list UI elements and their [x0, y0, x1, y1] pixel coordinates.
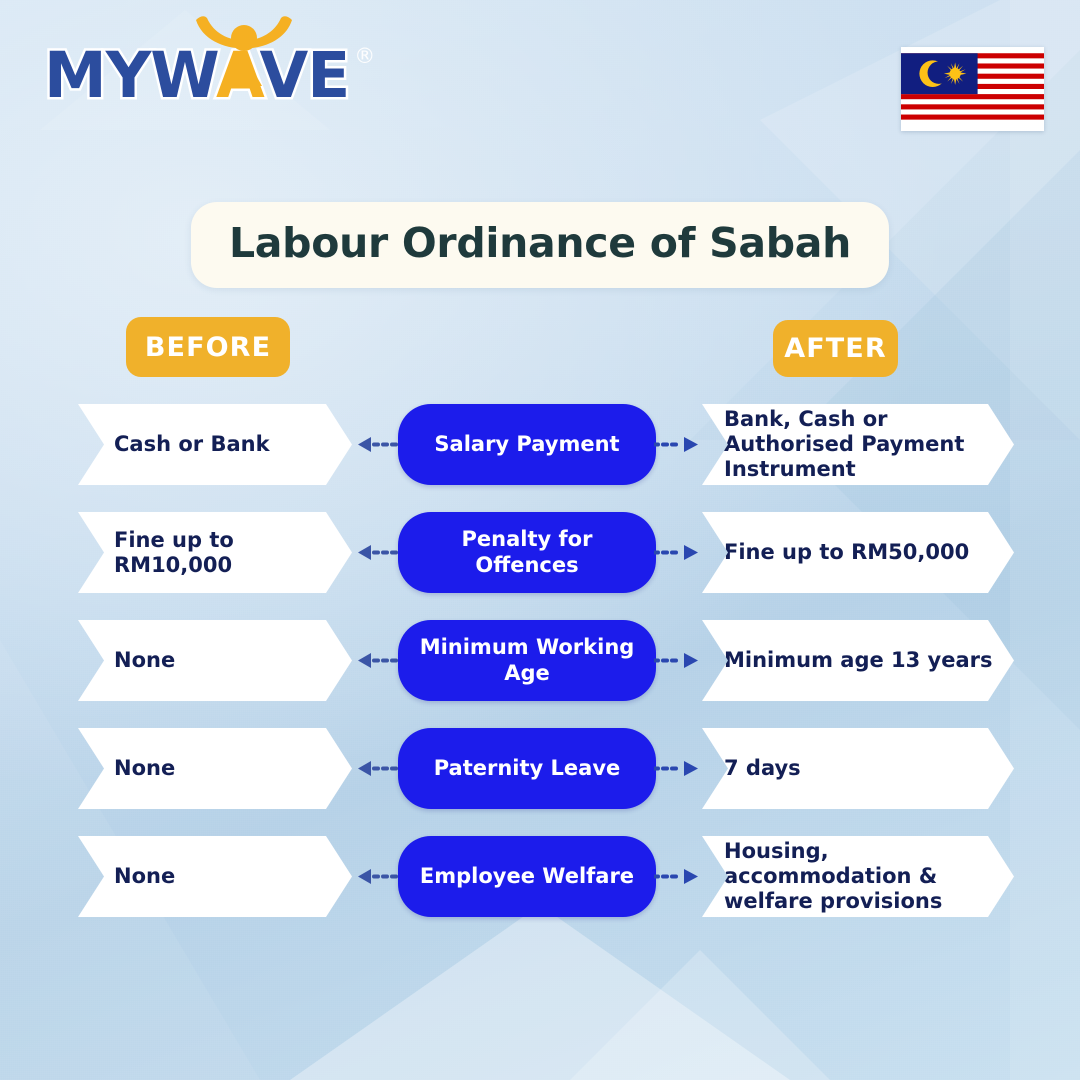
- topic-pill: Paternity Leave: [398, 728, 656, 809]
- before-card: Cash or Bank: [78, 404, 352, 485]
- after-value: Minimum age 13 years: [702, 648, 1009, 673]
- after-value: Bank, Cash or Authorised Payment Instrum…: [702, 407, 1014, 481]
- before-value: None: [78, 864, 191, 889]
- comparison-row: Cash or BankSalary PaymentBank, Cash or …: [0, 404, 1080, 485]
- mywave-wordmark: MYWAVE: [44, 44, 349, 107]
- column-header-before: BEFORE: [126, 317, 290, 377]
- arrow-left-icon: [358, 652, 400, 669]
- arrow-right-icon: [654, 436, 698, 453]
- topic-label: Employee Welfare: [404, 864, 650, 889]
- before-value: Fine up to RM10,000: [78, 528, 352, 578]
- column-header-after: AFTER: [773, 320, 898, 377]
- comparison-row: Fine up to RM10,000Penalty for OffencesF…: [0, 512, 1080, 593]
- after-card: Fine up to RM50,000: [702, 512, 1014, 593]
- before-card: Fine up to RM10,000: [78, 512, 352, 593]
- topic-pill: Minimum Working Age: [398, 620, 656, 701]
- before-value: None: [78, 756, 191, 781]
- wordmark-part-1: MYW: [44, 39, 216, 112]
- topic-label: Penalty for Offences: [398, 527, 656, 577]
- topic-label: Paternity Leave: [418, 756, 637, 781]
- before-value: Cash or Bank: [78, 432, 286, 457]
- before-card: None: [78, 620, 352, 701]
- arrow-right-icon: [654, 544, 698, 561]
- topic-pill: Salary Payment: [398, 404, 656, 485]
- after-card: Bank, Cash or Authorised Payment Instrum…: [702, 404, 1014, 485]
- after-value: Fine up to RM50,000: [702, 540, 985, 565]
- after-value: 7 days: [702, 756, 817, 781]
- page-title: Labour Ordinance of Sabah: [229, 222, 851, 265]
- arrow-right-icon: [654, 652, 698, 669]
- topic-label: Salary Payment: [418, 432, 635, 457]
- after-card: 7 days: [702, 728, 1014, 809]
- after-value: Housing, accommodation & welfare provisi…: [702, 839, 1014, 913]
- arrow-right-icon: [654, 868, 698, 885]
- before-card: None: [78, 836, 352, 917]
- after-card: Housing, accommodation & welfare provisi…: [702, 836, 1014, 917]
- comparison-row: NonePaternity Leave7 days: [0, 728, 1080, 809]
- malaysia-flag-icon: [901, 47, 1044, 131]
- before-value: None: [78, 648, 191, 673]
- mywave-logo: MYWAVE ®: [44, 44, 375, 107]
- comparison-row: NoneMinimum Working AgeMinimum age 13 ye…: [0, 620, 1080, 701]
- arrow-left-icon: [358, 760, 400, 777]
- person-raised-arms-icon: [192, 14, 296, 86]
- registered-trademark-icon: ®: [354, 46, 375, 67]
- topic-label: Minimum Working Age: [398, 635, 656, 685]
- arrow-left-icon: [358, 868, 400, 885]
- before-card: None: [78, 728, 352, 809]
- arrow-left-icon: [358, 544, 400, 561]
- after-card: Minimum age 13 years: [702, 620, 1014, 701]
- topic-pill: Employee Welfare: [398, 836, 656, 917]
- arrow-left-icon: [358, 436, 400, 453]
- page-title-pill: Labour Ordinance of Sabah: [191, 202, 889, 288]
- arrow-right-icon: [654, 760, 698, 777]
- topic-pill: Penalty for Offences: [398, 512, 656, 593]
- comparison-row: NoneEmployee WelfareHousing, accommodati…: [0, 836, 1080, 917]
